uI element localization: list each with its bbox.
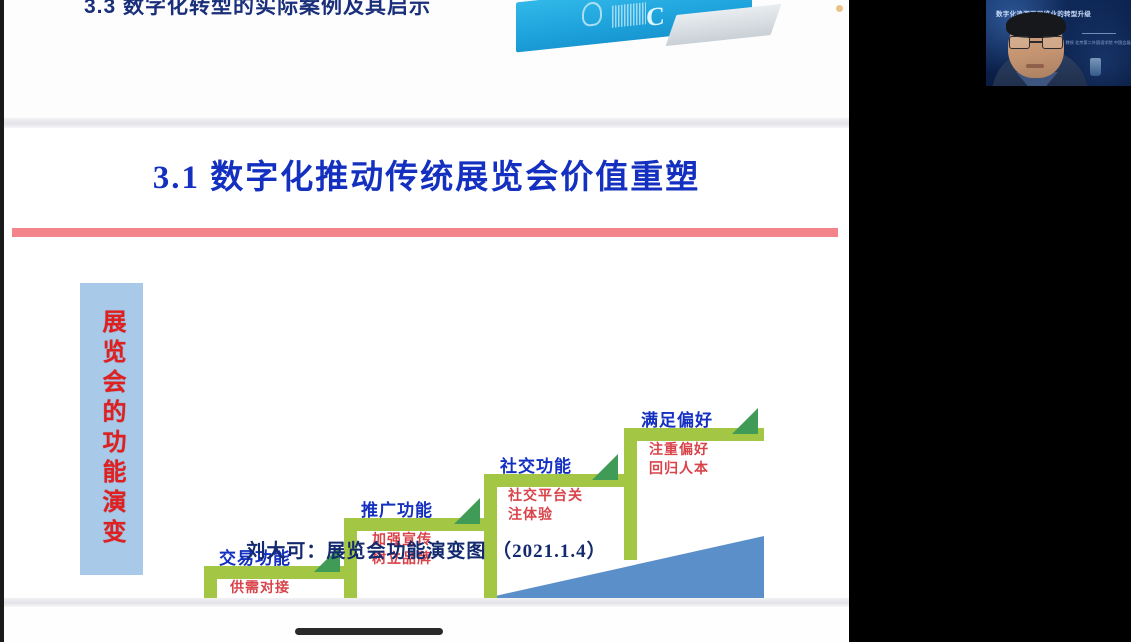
step-arrow-icon <box>592 454 618 480</box>
step-label: 推广功能 <box>361 496 433 521</box>
step-sublabel: 社交平台关 注体验 <box>508 488 583 526</box>
step-sublabel-line1: 注重偏好 <box>649 442 709 461</box>
step-sublabel-line1: 社交平台关 <box>508 488 583 507</box>
step-sublabel-line2: 回归人本 <box>649 461 709 480</box>
stacked-books-image: B Education BIBLIOGRAPHY C <box>516 0 772 70</box>
step-label: 满足偏好 <box>641 406 713 431</box>
step-label: 社交功能 <box>500 452 572 477</box>
water-glass <box>1090 58 1101 76</box>
barcode-icon <box>612 2 646 28</box>
page-corner-marker <box>836 5 843 12</box>
step-sublabel-line1: 供需对接 <box>230 580 290 598</box>
step-sublabel-line2: 注体验 <box>508 507 583 526</box>
previous-slide-title: 3.3 数字化转型的实际案例及其启示 <box>84 0 431 20</box>
glasses-lens-right <box>1042 36 1063 49</box>
glasses-lens-left <box>1009 36 1030 49</box>
bottom-slide-separator <box>4 598 849 607</box>
current-slide[interactable]: 3.1 数字化推动传统展览会价值重塑 展览会的功能演变 服务！ 服务！ 服务！ <box>4 128 849 598</box>
book-cyan-letter: C <box>646 1 665 33</box>
next-slide-preview[interactable] <box>4 607 849 642</box>
previous-slide[interactable]: 3.3 数字化转型的实际案例及其启示 B Education BIBLIOGRA… <box>4 0 849 118</box>
slide-title: 3.1 数字化推动传统展览会价值重塑 <box>4 150 849 198</box>
glasses-icon <box>1009 36 1063 49</box>
slide-viewer[interactable]: 3.3 数字化转型的实际案例及其启示 B Education BIBLIOGRA… <box>4 0 849 642</box>
title-underline-bar <box>12 228 838 237</box>
presenter-webcam-overlay[interactable]: 数字化浪潮下展览业的转型升级 2021年2月19日 主讲人 刘大可 教授 北京第… <box>985 0 1131 86</box>
home-indicator[interactable] <box>295 628 443 635</box>
lightbulb-icon <box>582 1 602 27</box>
presenter-hair <box>1006 12 1066 38</box>
presenter-mouth <box>1026 64 1044 68</box>
screen-capture: 3.3 数字化转型的实际案例及其启示 B Education BIBLIOGRA… <box>0 0 1131 642</box>
step-riser <box>204 566 217 598</box>
slide-separator <box>4 118 849 128</box>
step-sublabel: 供需对接 达成交易 <box>230 580 290 598</box>
step-arrow-icon <box>732 408 758 434</box>
webcam-slide-rule <box>1082 33 1116 34</box>
step-sublabel: 注重偏好 回归人本 <box>649 442 709 480</box>
diagram-source-caption: 刘大可：展览会功能演变图 （2021.1.4） <box>4 536 849 563</box>
glasses-bridge <box>1030 41 1042 43</box>
